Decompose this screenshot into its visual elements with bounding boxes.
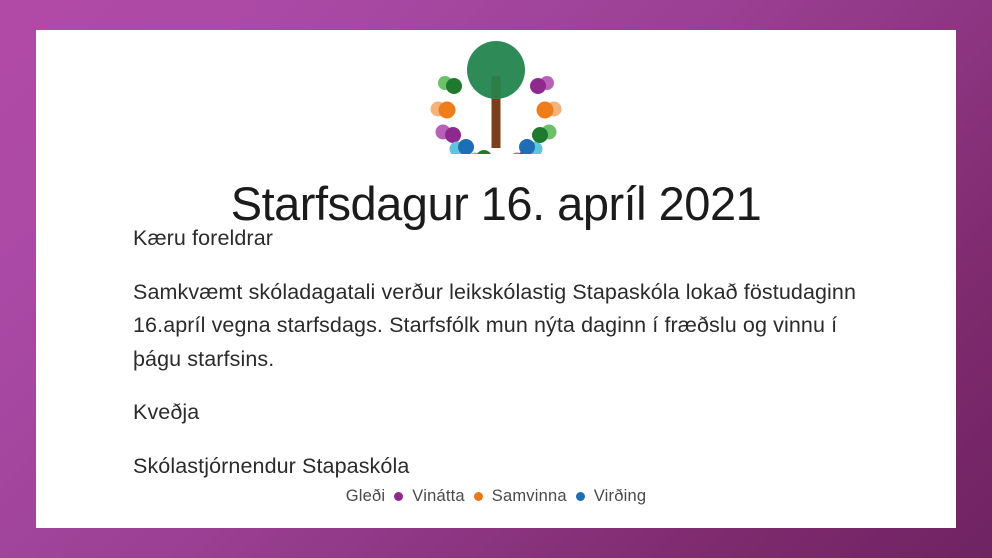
body-text: Kæru foreldrar Samkvæmt skóladagatali ve… (133, 222, 873, 483)
value-vinatta: Vinátta (412, 487, 464, 506)
value-virding: Virðing (594, 487, 646, 506)
value-samvinna: Samvinna (492, 487, 567, 506)
bullet-blue-icon (576, 492, 585, 501)
school-values-footer: Gleði Vinátta Samvinna Virðing (36, 487, 956, 506)
content-card: Starfsdagur 16. apríl 2021 Kæru foreldra… (36, 30, 956, 528)
paragraph-announcement: Samkvæmt skóladagatali verður leikskólas… (133, 276, 873, 377)
paragraph-closing: Kveðja (133, 396, 873, 430)
value-gledi: Gleði (346, 487, 386, 506)
bullet-purple-icon (394, 492, 403, 501)
stapaskoli-tree-logo (416, 36, 576, 154)
slide-root: Starfsdagur 16. apríl 2021 Kæru foreldra… (0, 0, 992, 558)
paragraph-greeting: Kæru foreldrar (133, 222, 873, 256)
bullet-orange-icon (474, 492, 483, 501)
paragraph-signature: Skólastjórnendur Stapaskóla (133, 450, 873, 484)
